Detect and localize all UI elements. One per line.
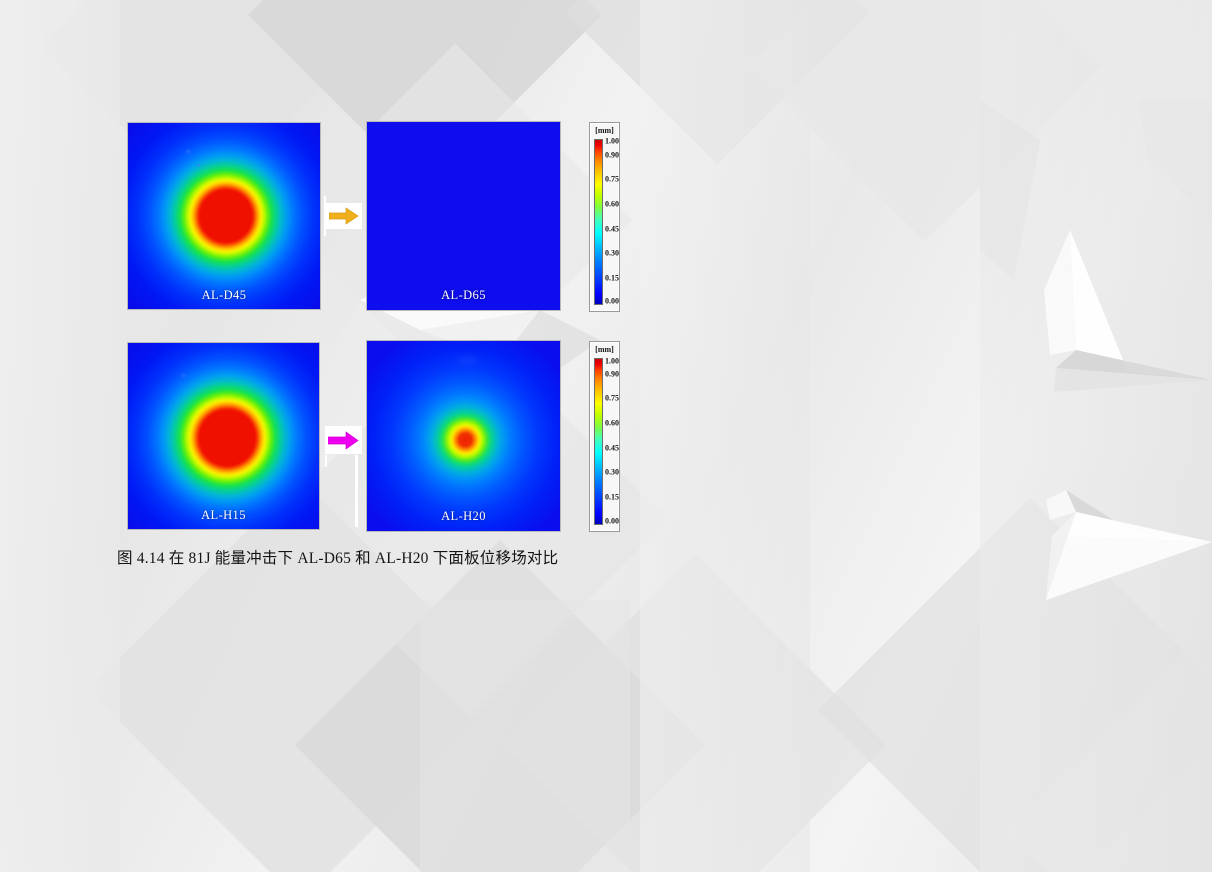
colorbar-top: [mm] 1.00 0.90 0.75 0.60 0.45 0.30 0.15 … — [589, 122, 620, 312]
colorbar-unit-label: [mm] — [590, 126, 619, 135]
arrow-top-container — [325, 203, 362, 229]
field-artifact — [197, 164, 200, 167]
contour-panel-al-h20[interactable]: AL-H20 — [366, 340, 561, 532]
connector-line-bottom-2 — [325, 455, 327, 467]
colorbar-tick: 0.15 — [605, 493, 617, 502]
contour-panel-al-d65[interactable]: AL-D65 — [366, 121, 561, 311]
colorbar-gradient — [594, 358, 603, 525]
figure-caption: 图 4.14 在 81J 能量冲击下 AL-D65 和 AL-H20 下面板位移… — [117, 546, 558, 568]
contour-panel-al-h15[interactable]: AL-H15 — [127, 342, 320, 530]
colorbar-ticks: 1.00 0.90 0.75 0.60 0.45 0.30 0.15 0.00 — [605, 139, 618, 305]
displacement-field — [367, 341, 560, 531]
slide-canvas: AL-D45 AL-D65 [mm] 1.00 0.90 0.75 0.60 0… — [0, 0, 1212, 872]
arrow-right-magenta-icon — [328, 431, 359, 450]
colorbar-tick: 0.30 — [605, 468, 617, 477]
arrow-right-orange-icon — [329, 207, 359, 225]
colorbar-tick: 0.75 — [605, 394, 617, 403]
colorbar-gradient — [594, 139, 603, 305]
panel-label-al-h15: AL-H15 — [128, 508, 319, 523]
panel-label-al-d45: AL-D45 — [128, 288, 320, 303]
colorbar-tick: 1.00 — [605, 356, 617, 365]
colorbar-tick: 0.60 — [605, 199, 617, 208]
colorbar-tick: 0.90 — [605, 369, 617, 378]
figure-container: AL-D45 AL-D65 [mm] 1.00 0.90 0.75 0.60 0… — [0, 0, 1212, 872]
colorbar-tick: 0.90 — [605, 150, 617, 159]
colorbar-tick: 0.00 — [605, 296, 617, 305]
colorbar-tick: 0.60 — [605, 419, 617, 428]
colorbar-tick: 0.45 — [605, 224, 617, 233]
contour-panel-al-d45[interactable]: AL-D45 — [127, 122, 321, 310]
panel-label-al-d65: AL-D65 — [367, 288, 560, 303]
colorbar-tick: 0.75 — [605, 174, 617, 183]
colorbar-ticks: 1.00 0.90 0.75 0.60 0.45 0.30 0.15 0.00 — [605, 358, 618, 525]
field-artifact — [186, 149, 191, 154]
colorbar-tick: 0.15 — [605, 273, 617, 282]
colorbar-bottom: [mm] 1.00 0.90 0.75 0.60 0.45 0.30 0.15 … — [589, 341, 620, 532]
colorbar-tick: 0.00 — [605, 516, 617, 525]
displacement-field — [367, 122, 560, 310]
panel-label-al-h20: AL-H20 — [367, 509, 560, 524]
colorbar-tick: 1.00 — [605, 137, 617, 146]
colorbar-tick: 0.30 — [605, 248, 617, 257]
arrow-bottom-container — [325, 426, 362, 454]
displacement-field — [128, 343, 319, 529]
connector-line-bottom — [355, 455, 358, 527]
colorbar-unit-label: [mm] — [590, 345, 619, 354]
displacement-field — [128, 123, 320, 309]
colorbar-tick: 0.45 — [605, 444, 617, 453]
